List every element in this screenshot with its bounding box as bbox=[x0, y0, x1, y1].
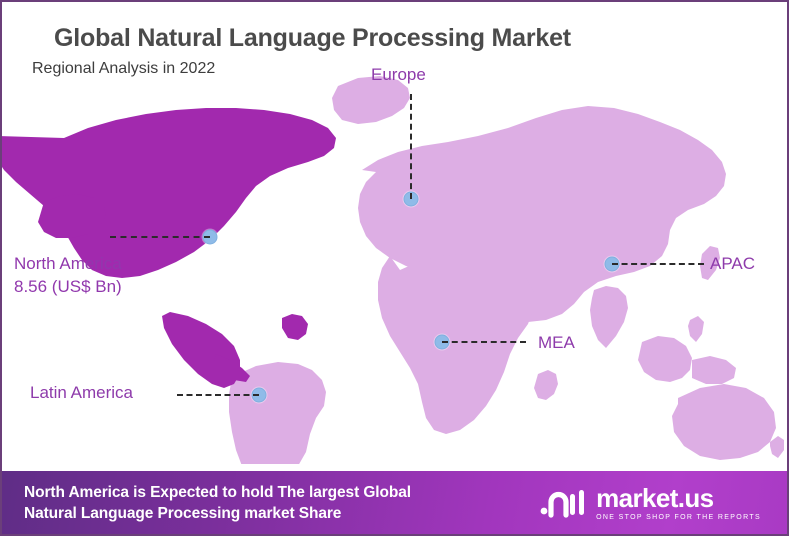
map-highlight-north-america bbox=[2, 108, 336, 388]
region-name-north-america: North America bbox=[14, 252, 122, 275]
region-label-apac: APAC bbox=[710, 254, 755, 274]
leader-north-america bbox=[110, 236, 210, 238]
market-us-logo-mark bbox=[540, 486, 587, 520]
leader-europe bbox=[410, 94, 412, 199]
logo-tagline: ONE STOP SHOP FOR THE REPORTS bbox=[596, 514, 761, 521]
leader-mea bbox=[442, 341, 526, 343]
region-label-europe: Europe bbox=[371, 65, 426, 85]
page-title: Global Natural Language Processing Marke… bbox=[54, 24, 571, 53]
market-us-logo-text: market.us ONE STOP SHOP FOR THE REPORTS bbox=[596, 485, 761, 521]
region-label-mea: MEA bbox=[538, 333, 575, 353]
infographic-frame: Global Natural Language Processing Marke… bbox=[0, 0, 789, 536]
region-label-latin-america: Latin America bbox=[30, 383, 133, 403]
region-value-north-america: 8.56 (US$ Bn) bbox=[14, 275, 122, 298]
leader-latin-america bbox=[177, 394, 259, 396]
market-us-logo[interactable]: market.us ONE STOP SHOP FOR THE REPORTS bbox=[540, 485, 761, 521]
logo-wordmark: market.us bbox=[596, 485, 761, 511]
banner-text: North America is Expected to hold The la… bbox=[24, 482, 411, 524]
region-label-north-america: North America 8.56 (US$ Bn) bbox=[14, 252, 122, 298]
banner-line-2: Natural Language Processing market Share bbox=[24, 503, 411, 524]
bottom-banner: North America is Expected to hold The la… bbox=[2, 471, 787, 534]
leader-apac bbox=[612, 263, 704, 265]
banner-line-1: North America is Expected to hold The la… bbox=[24, 482, 411, 503]
